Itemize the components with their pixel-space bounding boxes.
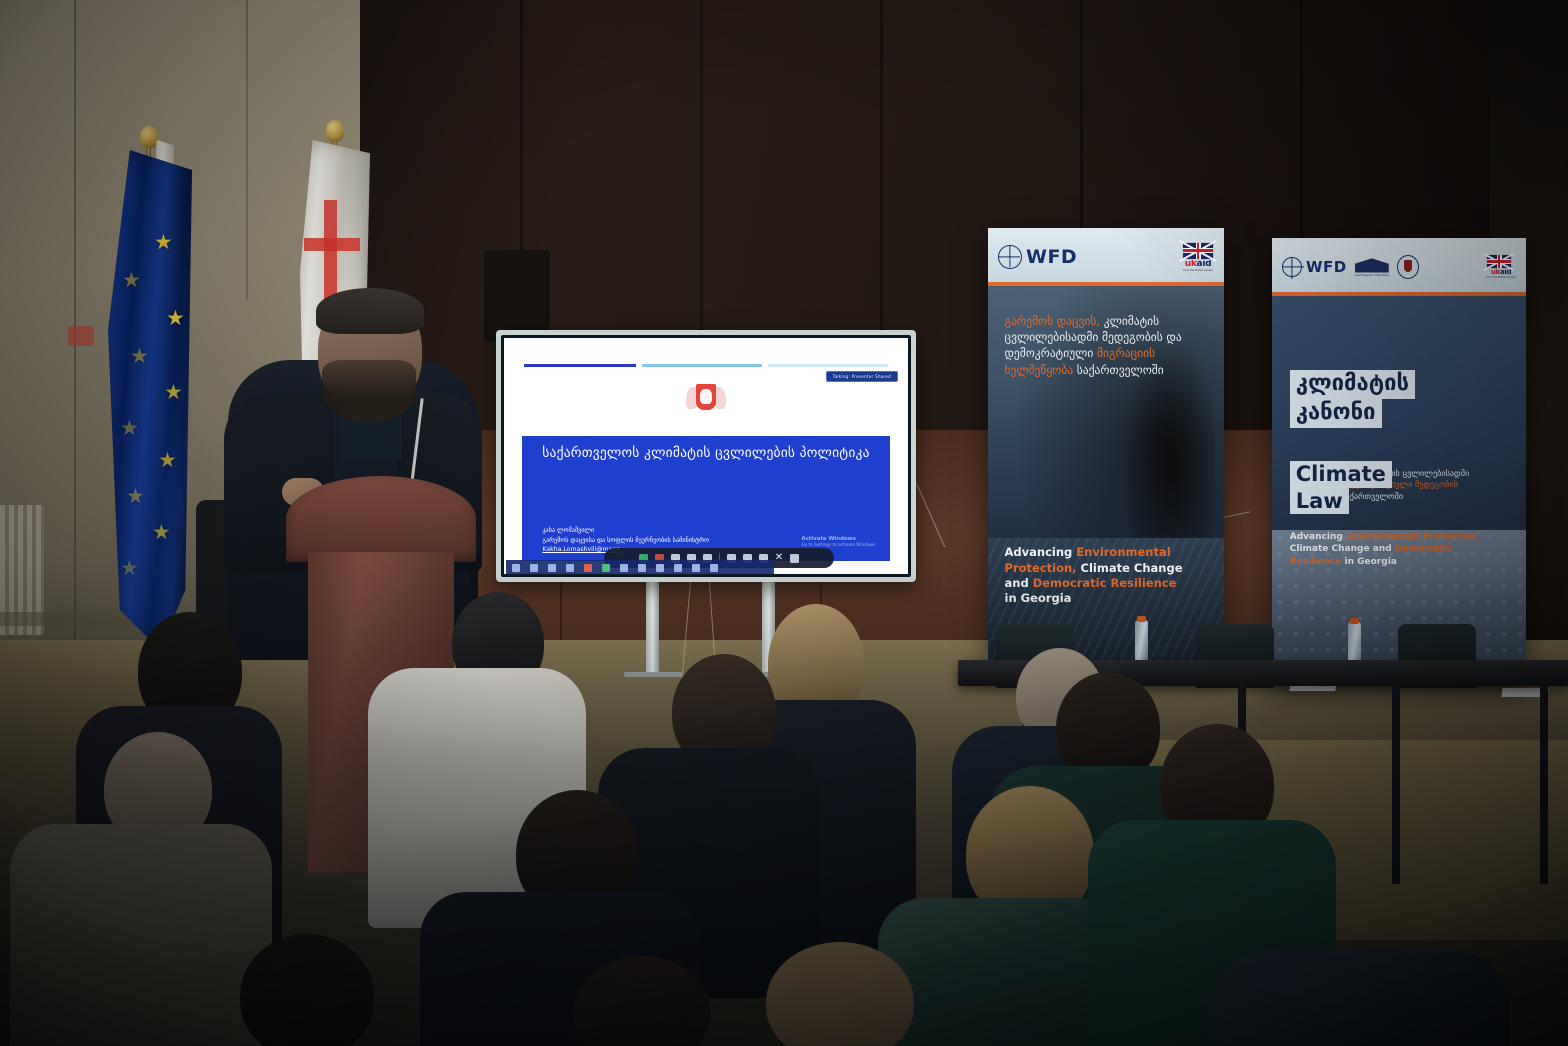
- water-bottle: [1135, 620, 1148, 664]
- wfd-wordmark: WFD: [1306, 258, 1347, 276]
- security-control[interactable]: Security: [548, 564, 556, 572]
- rollup-banner-climate-law: WFD საქართველოს პარლამენტი ukaid from th…: [1272, 238, 1526, 686]
- bottle-cap: [1350, 618, 1359, 624]
- slide-canvas: Talking: Presenter Shared საქართველოს კლ…: [504, 338, 908, 574]
- table-leg: [1540, 684, 1548, 884]
- apps-label: Apps: [692, 573, 699, 574]
- georgia-flag-finial-icon: [326, 120, 344, 142]
- parliament-logo: საქართველოს პარლამენტი: [1355, 258, 1389, 277]
- display-stand-foot: [624, 672, 682, 677]
- mute-control[interactable]: Mute: [512, 564, 520, 572]
- speaker-beard: [322, 360, 416, 422]
- wall-seam: [74, 0, 76, 640]
- mute-label: Mute: [512, 573, 520, 574]
- banner-left-body: გარემოს დაცვის, კლიმატის ცვლილებისადმი მ…: [988, 286, 1224, 668]
- talking-badge: Talking: Presenter Shared: [826, 371, 898, 382]
- security-icon[interactable]: [548, 564, 556, 572]
- loudspeaker-box: [484, 250, 550, 342]
- share-screen-icon[interactable]: [602, 564, 610, 572]
- banner-right-title-ka: კლიმატის კანონი: [1290, 370, 1415, 428]
- summary-icon[interactable]: [638, 564, 646, 572]
- ukaid-logo: ukaid from the British people: [1486, 254, 1516, 280]
- chat-label: Chat: [584, 573, 591, 574]
- remote-control-label: Remote Control: [666, 573, 689, 574]
- eu-flag-finial-icon: [140, 126, 158, 148]
- security-label: Security: [546, 573, 558, 574]
- more-control[interactable]: More: [710, 564, 718, 572]
- pause-share-control[interactable]: Pause Share: [620, 564, 628, 572]
- slide-title: საქართველოს კლიმატის ცვლილების პოლიტიკა: [522, 445, 890, 461]
- apps-control[interactable]: Apps: [692, 564, 700, 572]
- stop-video-icon[interactable]: [530, 564, 538, 572]
- meeting-control-bar[interactable]: MuteStop VideoSecurityParticipantsChatSh…: [506, 560, 774, 574]
- summary-label: Summary: [635, 573, 650, 574]
- banner-right-header: WFD საქართველოს პარლამენტი ukaid from th…: [1272, 238, 1526, 296]
- georgia-emblem-icon: [1397, 255, 1419, 279]
- banner-left-headline-en: Advancing Environmental Protection, Clim…: [1005, 545, 1208, 607]
- banner-left-headline-ka: გარემოს დაცვის, კლიმატის ცვლილებისადმი მ…: [1005, 313, 1208, 378]
- parliament-building-icon: [1355, 258, 1389, 273]
- georgia-coat-of-arms-icon: [685, 378, 727, 424]
- speaker-hair: [316, 288, 424, 334]
- remote-control-icon[interactable]: [674, 564, 682, 572]
- mute-icon[interactable]: [512, 564, 520, 572]
- podium-top: [286, 476, 476, 562]
- globe-icon: [1282, 257, 1302, 277]
- chat-icon[interactable]: [584, 564, 592, 572]
- banner-right-title-en: Climate Law: [1290, 461, 1392, 515]
- banner-right-strapline-en: Advancing Environmental Protection, Clim…: [1290, 531, 1508, 569]
- more-icon[interactable]: [710, 564, 718, 572]
- globe-icon: [998, 245, 1022, 269]
- bottle-cap: [1137, 616, 1146, 622]
- participants-icon[interactable]: [566, 564, 574, 572]
- share-screen-control[interactable]: Share Screen: [602, 564, 610, 572]
- table-leg: [1392, 684, 1400, 884]
- wfd-logo: WFD: [998, 245, 1077, 269]
- parliament-label: საქართველოს პარლამენტი: [1355, 274, 1389, 277]
- participants-control[interactable]: Participants: [566, 564, 574, 572]
- pause-share-icon[interactable]: [620, 564, 628, 572]
- banner-left-header: WFD ukaid from the British people: [988, 228, 1224, 286]
- stop-video-label: Stop Video: [526, 573, 542, 574]
- slide-blue-panel: საქართველოს კლიმატის ცვლილების პოლიტიკა …: [522, 436, 890, 561]
- ukaid-wordmark: ukaid from the British people: [1182, 260, 1214, 273]
- presentation-display[interactable]: Talking: Presenter Shared საქართველოს კლ…: [496, 330, 916, 582]
- slide-accent-bars: [524, 364, 888, 367]
- presenter-role: გარემოს დაცვისა და სოფლის მეურნეობის სამ…: [542, 536, 709, 546]
- union-jack-icon: [1486, 254, 1512, 269]
- ukaid-logo: ukaid from the British people: [1182, 242, 1214, 273]
- more-label: More: [710, 573, 717, 574]
- wfd-wordmark: WFD: [1026, 246, 1077, 268]
- ai-companion-icon[interactable]: [656, 564, 664, 572]
- stop-video-control[interactable]: Stop Video: [530, 564, 538, 572]
- ukaid-wordmark: ukaid from the British people: [1486, 269, 1516, 280]
- windows-activation-watermark: Activate Windows Go to Settings to activ…: [801, 536, 875, 547]
- wall-seam-secondary: [246, 0, 248, 300]
- gear-icon[interactable]: [790, 554, 799, 563]
- fire-alarm-icon: [68, 326, 94, 346]
- pause-share-label: Pause Share: [615, 573, 633, 574]
- wfd-logo: WFD: [1282, 257, 1347, 277]
- remote-control-control[interactable]: Remote Control: [674, 564, 682, 572]
- rollup-banner-advancing: WFD ukaid from the British people: [988, 228, 1224, 668]
- apps-icon[interactable]: [692, 564, 700, 572]
- share-screen-label: Share Screen: [596, 573, 616, 574]
- conference-room-photo: ★ ★ ★ ★ ★ ★ ★ ★ ★ ★: [0, 0, 1568, 1046]
- participants-label: Participants: [561, 573, 579, 574]
- union-jack-icon: [1182, 242, 1214, 260]
- close-icon[interactable]: ✕: [775, 553, 783, 563]
- ai-companion-control[interactable]: AI Companion: [656, 564, 664, 572]
- chat-control[interactable]: Chat: [584, 564, 592, 572]
- presenter-name: კახა ლომაშვილი: [542, 526, 709, 536]
- summary-control[interactable]: Summary: [638, 564, 646, 572]
- display-stand-leg: [646, 578, 659, 674]
